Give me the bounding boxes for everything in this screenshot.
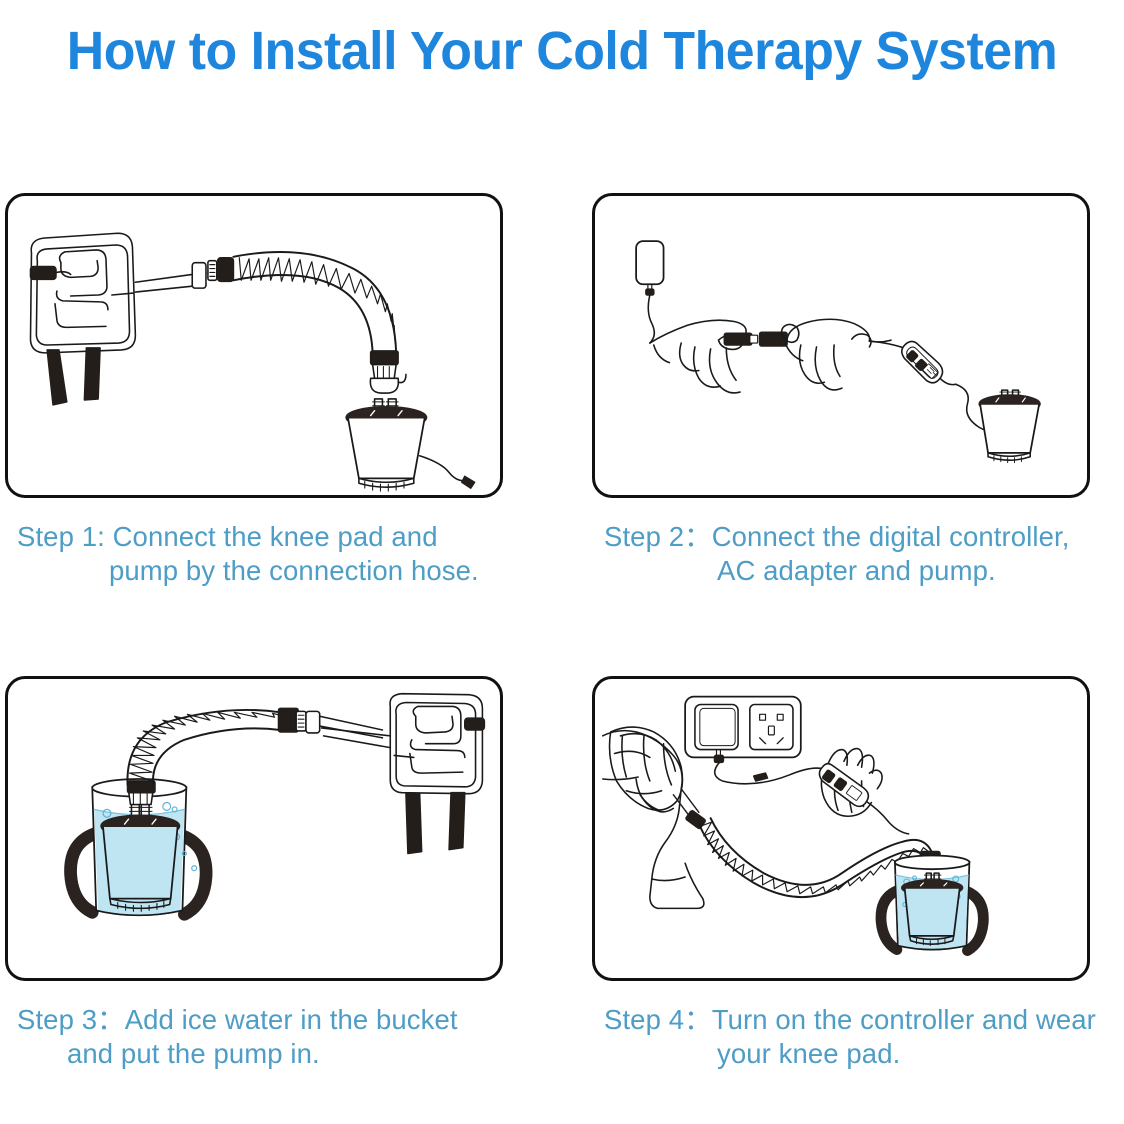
empty-socket (750, 704, 793, 749)
step-1-caption-line2: pump by the connection hose. (5, 554, 515, 588)
ac-adapter (636, 241, 663, 295)
barrel-connector-male (724, 333, 757, 345)
pump-unit (979, 390, 1040, 463)
step-4-caption-line1: Step 4：Turn on the controller and wear (592, 1003, 1102, 1037)
connection-hose (233, 252, 398, 365)
hose-lower-coupler (370, 365, 406, 393)
step-1-panel (5, 193, 503, 498)
knee-pad (30, 233, 192, 353)
left-hand (650, 320, 746, 393)
pump-unit (101, 804, 179, 911)
knee-pad-straps (47, 348, 100, 405)
instruction-sheet: How to Install Your Cold Therapy System (0, 0, 1124, 1124)
step-4-panel (592, 676, 1090, 981)
step-1-caption-line1: Step 1: Connect the knee pad and (5, 520, 515, 554)
connection-hose (127, 708, 298, 784)
step-3-caption-line2: and put the pump in. (5, 1037, 515, 1071)
pump-power-cord (420, 456, 467, 481)
step-3-panel (5, 676, 503, 981)
barrel-connector-female (760, 332, 787, 346)
pump-unit (902, 873, 963, 946)
digital-controller (819, 764, 908, 834)
adapter-cord (715, 762, 825, 783)
controller-cord (869, 341, 906, 349)
step-2-caption-line2: AC adapter and pump. (592, 554, 1102, 588)
step-1-caption: Step 1: Connect the knee pad and pump by… (5, 520, 515, 588)
step-4-caption: Step 4：Turn on the controller and wear y… (592, 1003, 1102, 1071)
step-3-block: Step 3：Add ice water in the bucket and p… (5, 676, 515, 1071)
knee-pad (322, 694, 485, 854)
step-4-caption-line2: your knee pad. (592, 1037, 1102, 1071)
right-hand (782, 319, 891, 390)
step-2-panel (592, 193, 1090, 498)
step-3-caption-line1: Step 3：Add ice water in the bucket (5, 1003, 515, 1037)
step-4-block: Step 4：Turn on the controller and wear y… (592, 676, 1102, 1071)
hose-connector (208, 258, 233, 282)
wall-outlet-plate (685, 697, 801, 763)
digital-controller (902, 341, 956, 384)
step-2-caption-line1: Step 2：Connect the digital controller, (592, 520, 1102, 554)
step-1-block: Step 1: Connect the knee pad and pump by… (5, 193, 515, 588)
soft-tube (192, 263, 206, 288)
hose-lower-coupler (128, 781, 155, 805)
pump-unit (346, 399, 426, 491)
step-2-block: Step 2：Connect the digital controller, A… (592, 193, 1102, 588)
adapter-cord (648, 295, 654, 343)
step-3-caption: Step 3：Add ice water in the bucket and p… (5, 1003, 515, 1071)
page-title: How to Install Your Cold Therapy System (22, 20, 1101, 82)
step-2-caption: Step 2：Connect the digital controller, A… (592, 520, 1102, 588)
